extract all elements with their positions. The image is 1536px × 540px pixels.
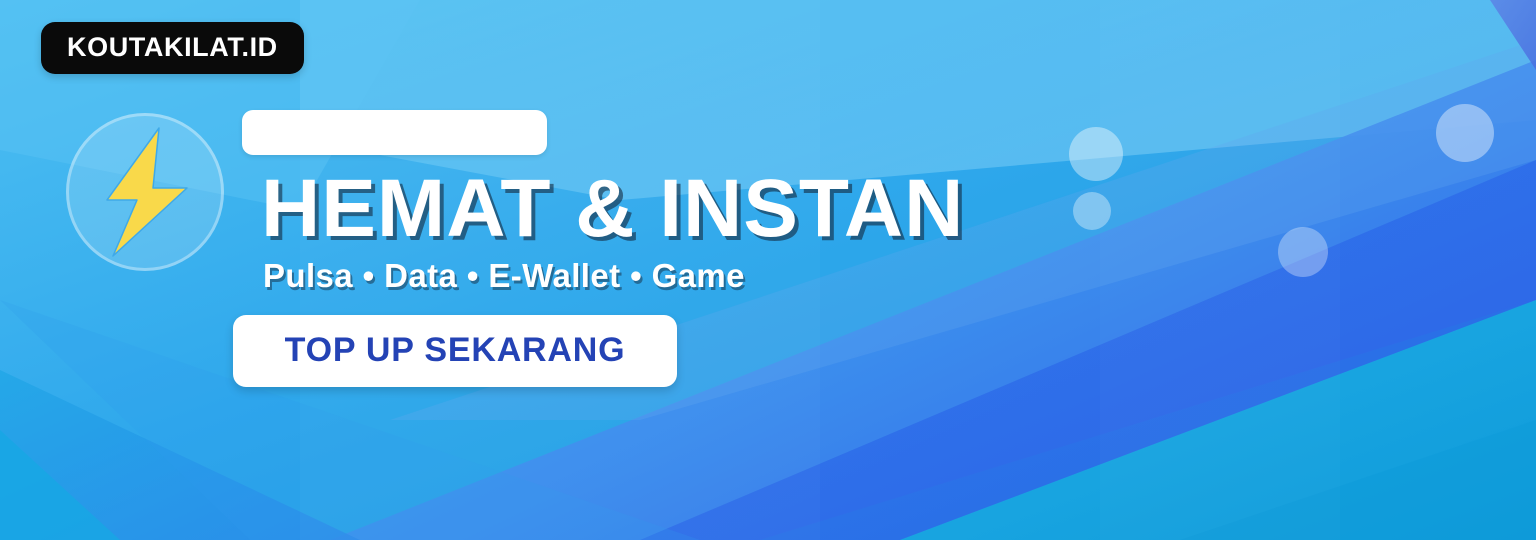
promo-banner: KOUTAKILAT.ID HEMAT & INSTAN Pulsa • Dat… bbox=[0, 0, 1536, 540]
bolt-emblem bbox=[66, 113, 224, 271]
lightning-bolt-icon bbox=[91, 126, 199, 258]
top-up-cta-button[interactable]: TOP UP SEKARANG bbox=[233, 315, 677, 387]
decor-circle bbox=[1073, 192, 1111, 230]
cta-label: TOP UP SEKARANG bbox=[285, 331, 626, 370]
brand-badge[interactable]: KOUTAKILAT.ID bbox=[41, 22, 304, 74]
brand-name: KOUTAKILAT.ID bbox=[67, 34, 278, 61]
decor-circle bbox=[1069, 127, 1123, 181]
subheadline: Pulsa • Data • E-Wallet • Game bbox=[263, 257, 964, 295]
decor-circle bbox=[1436, 104, 1494, 162]
page-title: HEMAT & INSTAN bbox=[261, 167, 964, 251]
eyebrow-pill[interactable] bbox=[242, 110, 547, 155]
decor-circle bbox=[1278, 227, 1328, 277]
banner-content: HEMAT & INSTAN Pulsa • Data • E-Wallet •… bbox=[233, 110, 964, 387]
